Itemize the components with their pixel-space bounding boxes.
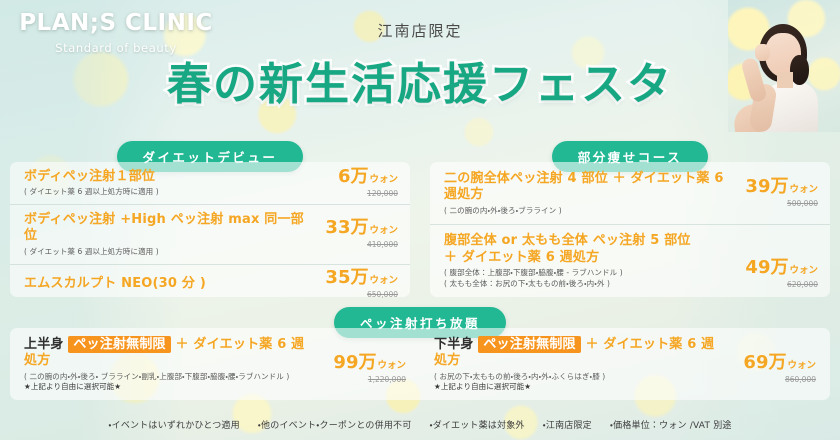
row-price: 69万ウォン 860,000 <box>743 354 816 384</box>
price-current: 6万ウォン <box>338 168 398 186</box>
price-unit: ウォン <box>369 275 398 286</box>
price-original: 410,000 <box>325 240 398 249</box>
row-price: 99万ウォン 1,220,000 <box>333 354 406 384</box>
table-row[interactable]: 二の腕全体ペッ注射 4 部位 ＋ ダイエット薬 6 週処方 ( 二の腕の内・外・… <box>430 162 830 224</box>
price-card-diet-debut: ボディペッ注射１部位 ( ダイエット薬 6 週以上処方時に適用 ) 6万ウォン … <box>10 162 410 297</box>
price-card-spot-slimming: 二の腕全体ペッ注射 4 部位 ＋ ダイエット薬 6 週処方 ( 二の腕の内・外・… <box>430 162 830 297</box>
price-amount: 39万 <box>745 176 788 197</box>
price-amount: 49万 <box>745 257 788 278</box>
price-original: 650,000 <box>325 290 398 299</box>
row-price: 6万ウォン 120,000 <box>338 168 398 198</box>
row-price: 35万ウォン 650,000 <box>325 269 398 299</box>
price-original: 500,000 <box>745 199 818 208</box>
price-unit: ウォン <box>789 184 818 195</box>
row-title-prefix: 上半身 <box>24 337 64 352</box>
row-title-prefix: 下半身 <box>434 337 474 352</box>
price-card-unlimited: 上半身 ペッ注射無制限 ＋ ダイエット薬 6 週処方 ( 二の腕の内・外・後ろ・… <box>10 328 830 400</box>
page-title: 春の新生活応援フェスタ <box>0 48 840 112</box>
price-current: 33万ウォン <box>325 219 398 237</box>
price-current: 99万ウォン <box>333 354 406 372</box>
price-amount: 33万 <box>325 217 368 238</box>
table-row[interactable]: 上半身 ペッ注射無制限 ＋ ダイエット薬 6 週処方 ( 二の腕の内・外・後ろ・… <box>10 328 420 400</box>
table-row[interactable]: 腹部全体 or 太もも全体 ペッ注射 5 部位 ＋ ダイエット薬 6 週処方 (… <box>430 224 830 295</box>
footer-note: ・イベントはいずれかひとつ適用 <box>108 421 239 431</box>
price-amount: 69万 <box>743 352 786 373</box>
footer-note: ・江南店限定 <box>543 421 592 431</box>
footer-note: ・価格単位：ウォン /VAT 別途 <box>610 421 732 431</box>
price-original: 620,000 <box>745 280 818 289</box>
row-title-badge: ペッ注射無制限 <box>478 336 580 353</box>
price-original: 860,000 <box>743 375 816 384</box>
price-unit: ウォン <box>369 225 398 236</box>
price-original: 120,000 <box>338 189 398 198</box>
price-amount: 99万 <box>333 352 376 373</box>
price-current: 35万ウォン <box>325 269 398 287</box>
price-original: 1,220,000 <box>333 375 406 384</box>
table-row[interactable]: 下半身 ペッ注射無制限 ＋ ダイエット薬 6 週処方 ( お尻の下・太ももの前・… <box>420 328 830 400</box>
row-title: 腹部全体 or 太もも全体 ペッ注射 5 部位 <box>444 233 818 249</box>
table-row[interactable]: ボディペッ注射 +High ペッ注射 max 同一部位 ( ダイエット薬 6 週… <box>10 204 410 263</box>
price-current: 69万ウォン <box>743 354 816 372</box>
row-title-badge: ペッ注射無制限 <box>68 336 170 353</box>
price-unit: ウォン <box>369 174 398 185</box>
footer-note: ・他のイベント・クーポンとの併用不可 <box>258 421 412 431</box>
price-amount: 35万 <box>325 267 368 288</box>
table-row[interactable]: エムスカルプト NEO(30 分 ) 35万ウォン 650,000 <box>10 264 410 303</box>
price-unit: ウォン <box>377 360 406 371</box>
price-current: 49万ウォン <box>745 259 818 277</box>
footer-notes: ・イベントはいずれかひとつ適用・他のイベント・クーポンとの併用不可・ダイエット薬… <box>0 418 840 431</box>
row-price: 49万ウォン 620,000 <box>745 259 818 289</box>
row-star-note: ★上記より自由に選択可能★ <box>24 382 408 393</box>
table-row[interactable]: ボディペッ注射１部位 ( ダイエット薬 6 週以上処方時に適用 ) 6万ウォン … <box>10 162 410 204</box>
price-current: 39万ウォン <box>745 178 818 196</box>
price-unit: ウォン <box>787 360 816 371</box>
limited-store-label: 江南店限定 <box>0 20 840 41</box>
row-price: 33万ウォン 410,000 <box>325 219 398 249</box>
price-unit: ウォン <box>789 265 818 276</box>
row-star-note: ★上記より自由に選択可能★ <box>434 382 818 393</box>
footer-note: ・ダイエット薬は対象外 <box>429 421 524 431</box>
price-amount: 6万 <box>338 166 369 187</box>
row-price: 39万ウォン 500,000 <box>745 178 818 208</box>
